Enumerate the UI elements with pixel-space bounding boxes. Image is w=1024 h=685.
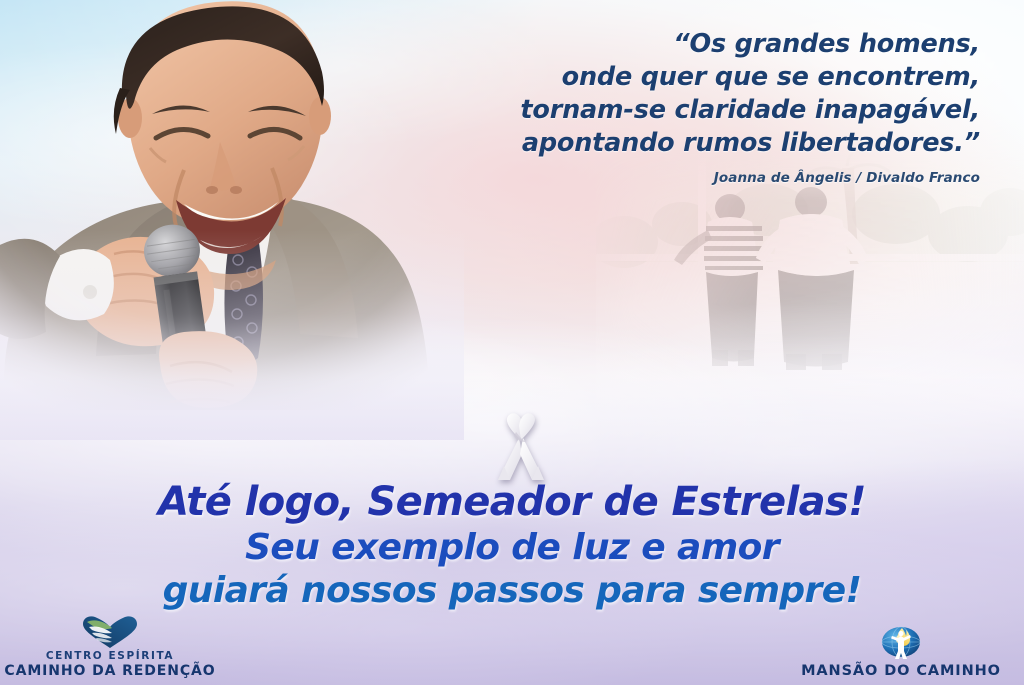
headline-line-1: Até logo, Semeador de Estrelas! xyxy=(0,482,1024,522)
headline-line-3: guiará nossos passos para sempre! xyxy=(0,573,1024,609)
quote-block: “Os grandes homens, onde quer que se enc… xyxy=(360,28,980,186)
logo-mansao-do-caminho: MANSÃO DO CAMINHO xyxy=(786,620,1016,679)
memorial-poster: “Os grandes homens, onde quer que se enc… xyxy=(0,0,1024,685)
heart-hands-icon xyxy=(79,615,141,649)
headline-line-2: Seu exemplo de luz e amor xyxy=(0,530,1024,566)
quote-line-2: onde quer que se encontrem, xyxy=(360,61,980,94)
globe-flame-icon xyxy=(877,620,925,660)
logo-right-name: MANSÃO DO CAMINHO xyxy=(786,663,1016,679)
headline-block: Até logo, Semeador de Estrelas! Seu exem… xyxy=(0,482,1024,609)
quote-line-3: tornam-se claridade inapagável, xyxy=(360,94,980,127)
portrait-bottom-fade xyxy=(0,230,464,440)
mourning-ribbon-icon xyxy=(488,410,554,486)
quote-attribution: Joanna de Ângelis / Divaldo Franco xyxy=(360,170,980,186)
quote-line-4: apontando rumos libertadores.” xyxy=(360,127,980,160)
logo-left-line-2: CAMINHO DA REDENÇÃO xyxy=(0,663,220,679)
background-photo xyxy=(596,150,1024,430)
logo-left-line-1: CENTRO ESPÍRITA xyxy=(0,650,220,662)
logo-centro-espirita: CENTRO ESPÍRITA CAMINHO DA REDENÇÃO xyxy=(0,615,220,679)
quote-line-1: “Os grandes homens, xyxy=(360,28,980,61)
